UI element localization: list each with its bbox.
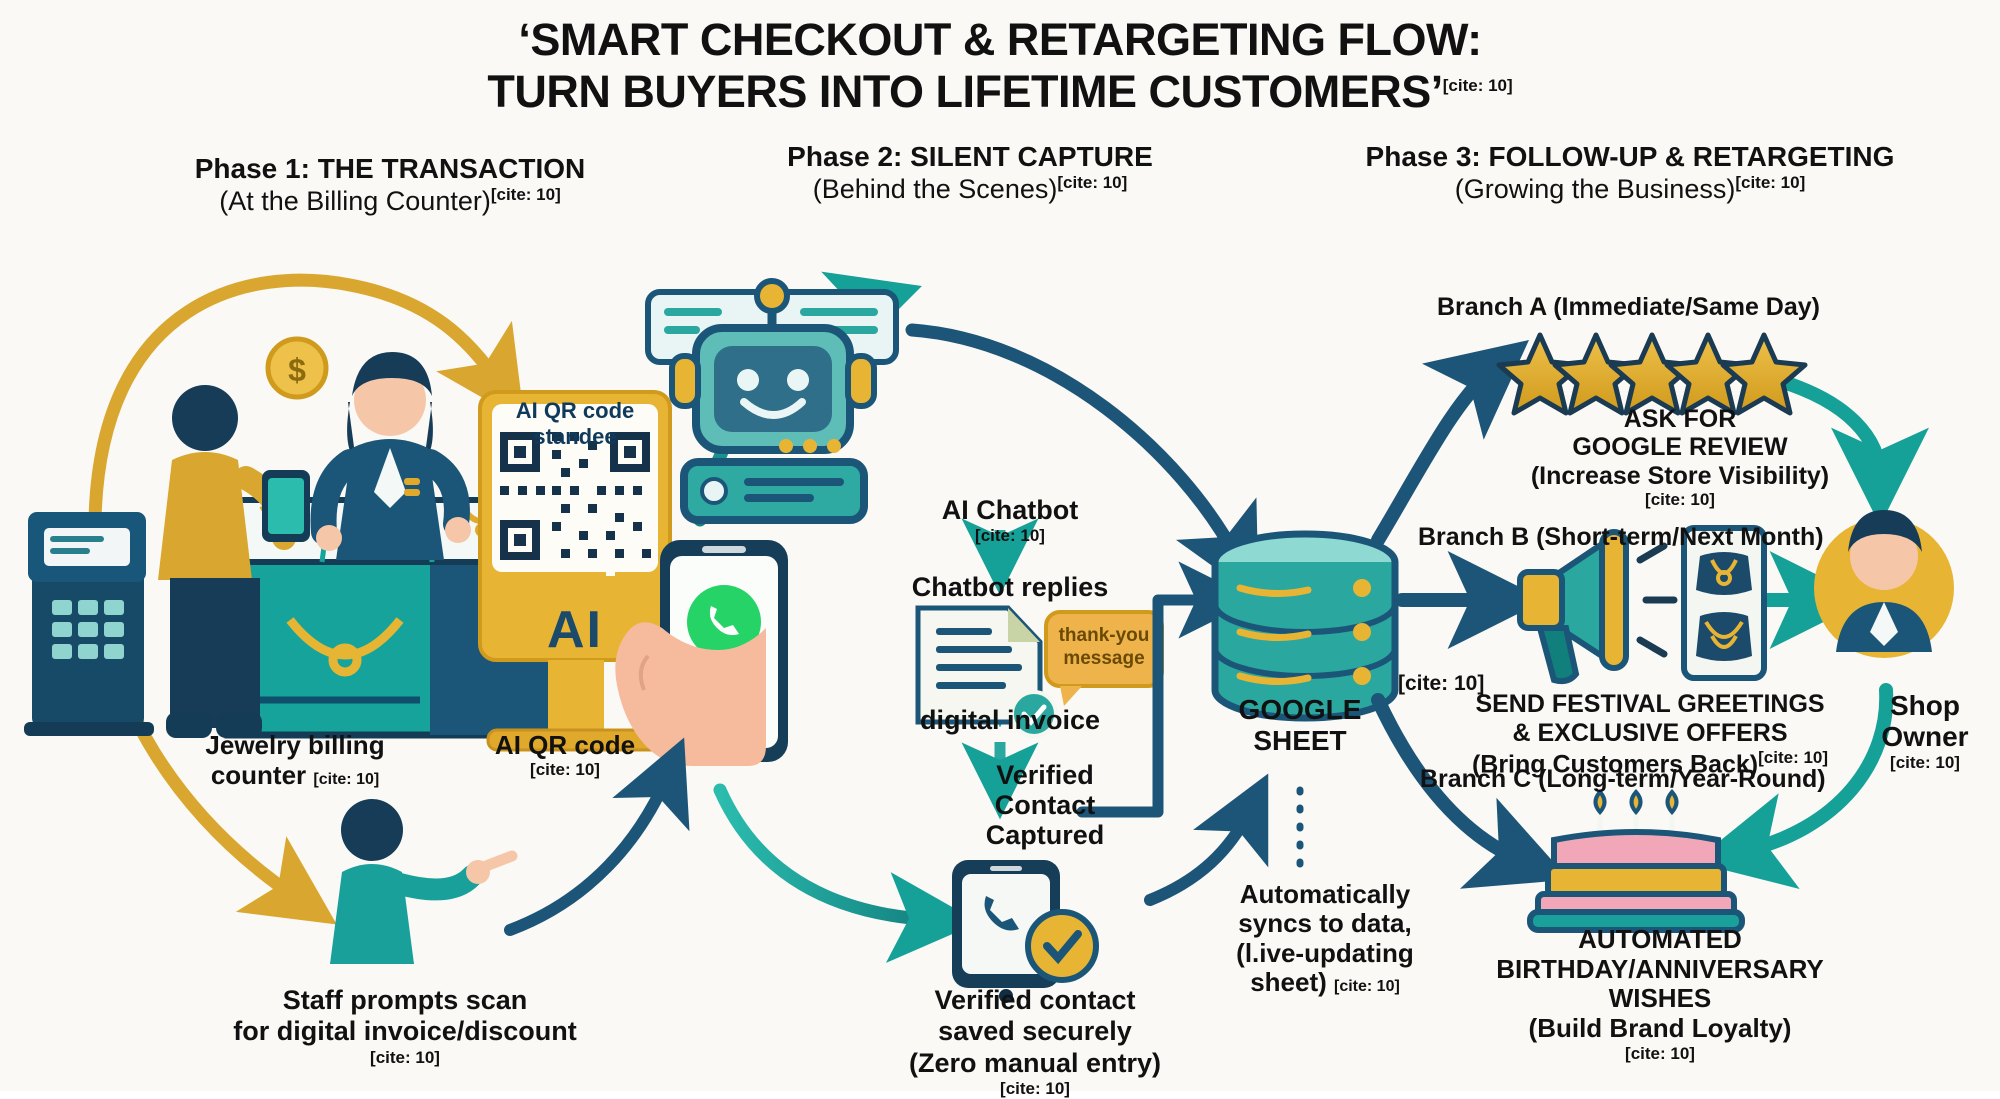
caption-ai-chatbot: AI Chatbot [cite: 10] (880, 495, 1140, 546)
phase-2-cite: [cite: 10] (1057, 173, 1127, 192)
star-rating (1499, 335, 1805, 413)
caption-sync-note-cite: [cite: 10] (1334, 978, 1400, 995)
caption-ai-qr-code-line-1: AI QR code (450, 730, 680, 760)
phase-2-subheading-wrap: (Behind the Scenes)[cite: 10] (690, 173, 1250, 206)
caption-staff-prompt-cite: [cite: 10] (180, 1048, 630, 1068)
page-title: ‘SMART CHECKOUT & RETARGETING FLOW: TURN… (0, 14, 2000, 118)
phase-3-heading: Phase 3: FOLLOW-UP & RETARGETING (1280, 140, 1980, 173)
caption-ai-qr-code-cite: [cite: 10] (450, 760, 680, 780)
title-line-2: TURN BUYERS INTO LIFETIME CUSTOMERS’ (487, 66, 1442, 118)
title-line-2-wrap: TURN BUYERS INTO LIFETIME CUSTOMERS’[cit… (0, 66, 2000, 118)
phase-1-subheading: (At the Billing Counter) (219, 186, 491, 216)
caption-branch-c-content: AUTOMATED BIRTHDAY/ANNIVERSARY WISHES (B… (1420, 925, 1900, 1063)
caption-jewelry-counter: Jewelry billing counter [cite: 10] (145, 730, 445, 790)
standee-label: AI QR code standee (480, 398, 670, 450)
caption-branch-b-subtitle: (Bring Customers Back) (1472, 750, 1758, 778)
phase-3-cite: [cite: 10] (1735, 173, 1805, 192)
caption-branch-c-line-2: BIRTHDAY/ANNIVERSARY (1420, 955, 1900, 985)
caption-branch-b-line-2: & EXCLUSIVE OFFERS (1420, 719, 1880, 748)
phase-3-header: Phase 3: FOLLOW-UP & RETARGETING (Growin… (1280, 140, 1980, 206)
caption-verified-captured-line-3: Captured (930, 820, 1160, 850)
caption-shop-owner-line-1: Shop (1845, 690, 2000, 721)
caption-branch-b-content: SEND FESTIVAL GREETINGS & EXCLUSIVE OFFE… (1420, 690, 1880, 779)
caption-sync-note-line-3: (l.ive-updating (1205, 939, 1445, 968)
caption-sync-note: Automatically syncs to data, (l.ive-upda… (1205, 880, 1445, 998)
caption-jewelry-counter-cite: [cite: 10] (313, 771, 379, 788)
standee-label-line-1: AI QR code (480, 398, 670, 424)
title-cite: [cite: 10] (1443, 76, 1513, 95)
caption-google-sheet-line-1: GOOGLE (1200, 695, 1400, 726)
infographic-canvas: ‘SMART CHECKOUT & RETARGETING FLOW: TURN… (0, 0, 2000, 1091)
phase-2-subheading: (Behind the Scenes) (813, 174, 1058, 204)
caption-google-sheet-line-2: SHEET (1200, 726, 1400, 757)
caption-shop-owner-line-2: Owner (1845, 721, 2000, 752)
phase-3-subheading-wrap: (Growing the Business)[cite: 10] (1280, 173, 1980, 206)
caption-verified-contact-saved: Verified contact saved securely (Zero ma… (870, 985, 1200, 1099)
caption-branch-c-cite: [cite: 10] (1420, 1044, 1900, 1063)
caption-branch-c-line-3: WISHES (1420, 984, 1900, 1014)
caption-verified-captured-line-1: Verified (930, 760, 1160, 790)
phase-1-header: Phase 1: THE TRANSACTION (At the Billing… (60, 152, 720, 218)
caption-branch-a-line-2: GOOGLE REVIEW (1480, 433, 1880, 461)
caption-verified-saved-cite: [cite: 10] (870, 1079, 1200, 1099)
caption-verified-contact-captured: Verified Contact Captured (930, 760, 1160, 851)
caption-branch-b-subtitle-wrap: (Bring Customers Back)[cite: 10] (1420, 748, 1880, 779)
caption-sync-note-line-4-wrap: sheet) [cite: 10] (1205, 968, 1445, 997)
thankyou-bubble-line-2: message (1046, 648, 1162, 671)
svg-text:Send: Send (701, 669, 750, 691)
standee-label-line-2: standee (480, 424, 670, 450)
caption-branch-a-line-1: ASK FOR (1480, 405, 1880, 433)
caption-branch-a-cite: [cite: 10] (1480, 490, 1880, 509)
caption-chatbot-replies: Chatbot replies (860, 572, 1160, 603)
caption-staff-prompt: Staff prompts scan for digital invoice/d… (180, 985, 630, 1067)
svg-text:$: $ (288, 352, 306, 388)
caption-sync-note-line-1: Automatically (1205, 880, 1445, 909)
caption-verified-saved-line-2: saved securely (870, 1016, 1200, 1047)
phase-2-heading: Phase 2: SILENT CAPTURE (690, 140, 1250, 173)
caption-digital-invoice: digital invoice (860, 705, 1160, 736)
caption-branch-b-line-1: SEND FESTIVAL GREETINGS (1420, 690, 1880, 719)
phase-1-subheading-wrap: (At the Billing Counter)[cite: 10] (60, 185, 720, 218)
title-line-1: ‘SMART CHECKOUT & RETARGETING FLOW: (0, 14, 2000, 66)
caption-jewelry-counter-line-2-wrap: counter [cite: 10] (145, 760, 445, 790)
caption-verified-saved-line-3: (Zero manual entry) (870, 1048, 1200, 1079)
caption-staff-prompt-line-2: for digital invoice/discount (180, 1016, 630, 1047)
caption-ai-chatbot-label: AI Chatbot (880, 495, 1140, 526)
phase-1-heading: Phase 1: THE TRANSACTION (60, 152, 720, 185)
caption-branch-c-line-1: AUTOMATED (1420, 925, 1900, 955)
caption-jewelry-counter-line-2: counter (211, 760, 306, 790)
branch-b-label: Branch B (Short-term/Next Month) (1418, 523, 1824, 552)
caption-sync-note-line-4: sheet) (1250, 967, 1327, 997)
caption-branch-a-subtitle: (Increase Store Visibility) (1480, 462, 1880, 490)
phase-3-subheading: (Growing the Business) (1455, 174, 1736, 204)
phase-2-header: Phase 2: SILENT CAPTURE (Behind the Scen… (690, 140, 1250, 206)
caption-ai-qr-code: AI QR code [cite: 10] (450, 730, 680, 780)
phase-1-cite: [cite: 10] (491, 185, 561, 204)
caption-branch-c-subtitle: (Build Brand Loyalty) (1420, 1014, 1900, 1044)
caption-staff-prompt-line-1: Staff prompts scan (180, 985, 630, 1016)
caption-sync-note-line-2: syncs to data, (1205, 909, 1445, 938)
caption-shop-owner: Shop Owner [cite: 10] (1845, 690, 2000, 772)
caption-branch-a-content: ASK FOR GOOGLE REVIEW (Increase Store Vi… (1480, 405, 1880, 509)
caption-verified-captured-line-2: Contact (930, 790, 1160, 820)
caption-jewelry-counter-line-1: Jewelry billing (145, 730, 445, 760)
caption-google-sheet: GOOGLE SHEET (1200, 695, 1400, 757)
thankyou-bubble-text: thank-you message (1046, 625, 1162, 671)
caption-ai-chatbot-cite: [cite: 10] (880, 526, 1140, 546)
branch-a-label: Branch A (Immediate/Same Day) (1437, 293, 1820, 322)
standee-ai-logo: AI (480, 600, 670, 660)
thankyou-bubble-line-1: thank-you (1046, 625, 1162, 648)
caption-shop-owner-cite: [cite: 10] (1845, 753, 2000, 772)
caption-branch-b-cite: [cite: 10] (1758, 748, 1828, 767)
caption-verified-saved-line-1: Verified contact (870, 985, 1200, 1016)
